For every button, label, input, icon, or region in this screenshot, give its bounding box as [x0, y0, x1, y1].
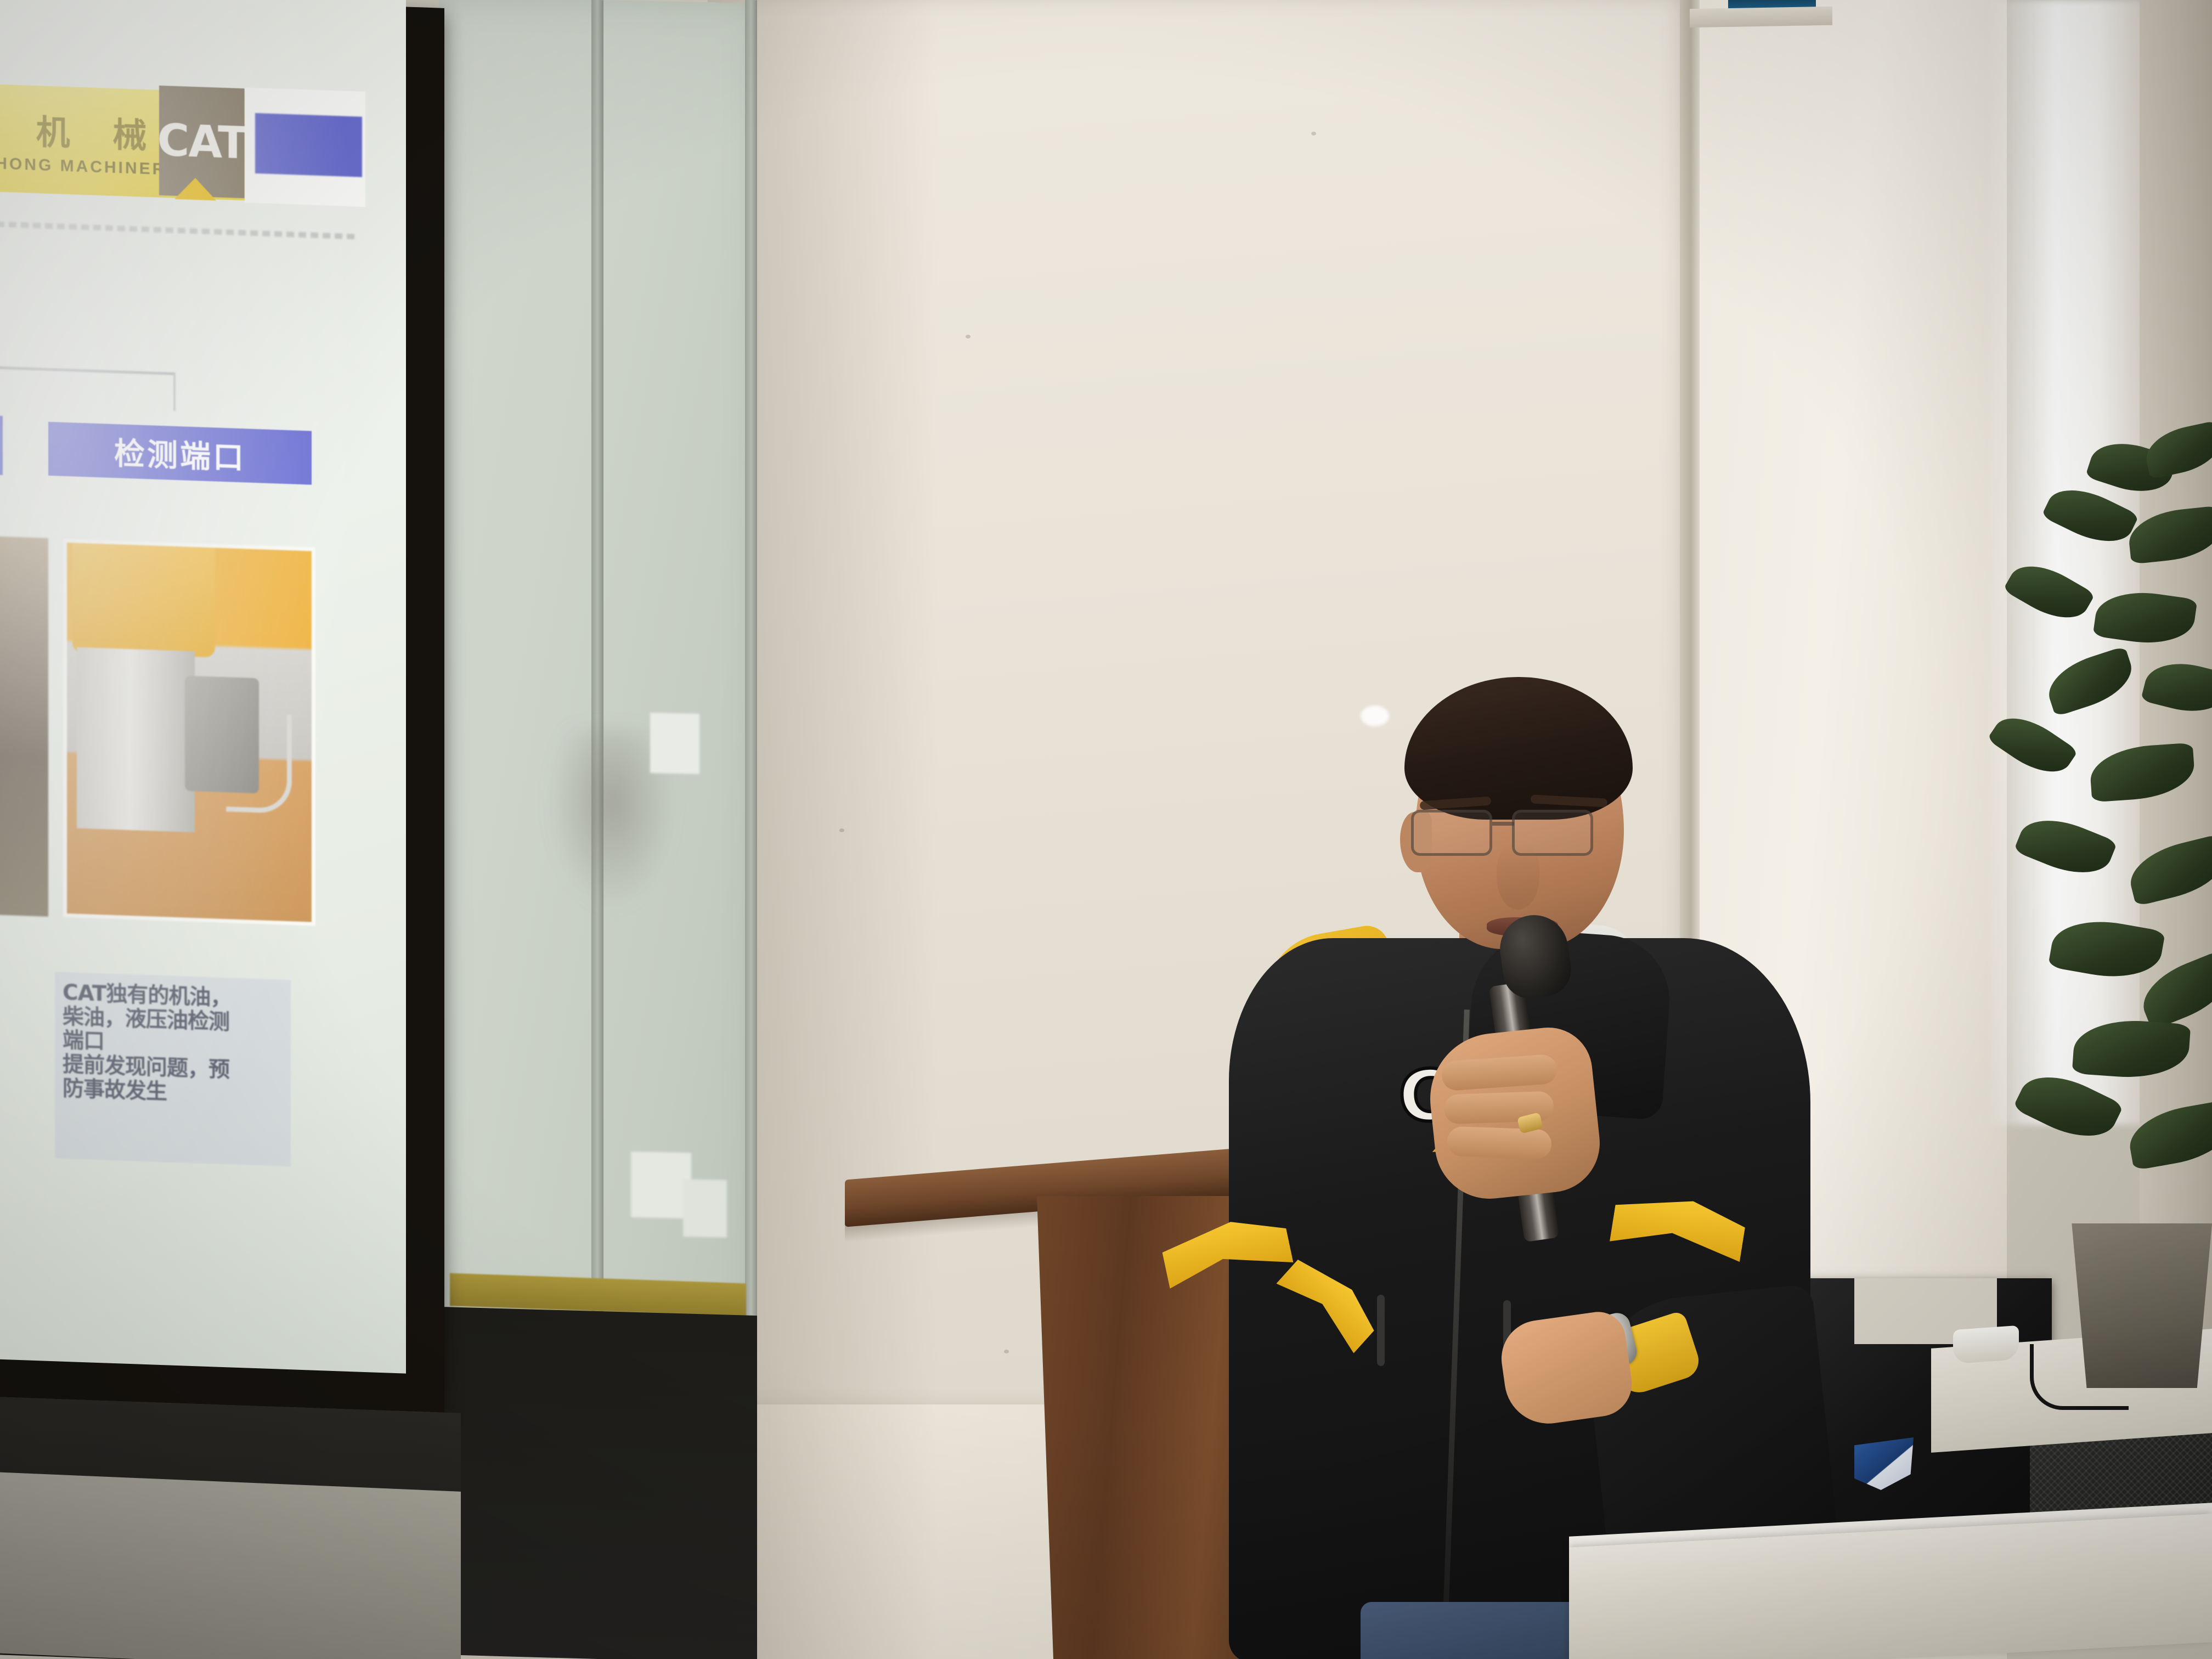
- wall-switch[interactable]: [650, 713, 699, 774]
- wall-mark: [839, 828, 844, 832]
- slide-left-text-column: 油 箱 期 减: [0, 962, 8, 1156]
- slide-cat-logo: CAT: [159, 86, 245, 198]
- lower-wall-panel-light: [0, 1471, 461, 1659]
- slide-blue-chip: [255, 113, 362, 177]
- plant-leaf: [2089, 742, 2196, 802]
- finger: [1447, 1126, 1552, 1160]
- lens-left: [1411, 810, 1492, 856]
- plant-leaf: [2141, 420, 2212, 479]
- ceiling-ledge: [1690, 7, 1832, 28]
- plant-leaf: [2124, 834, 2212, 907]
- slide-section-tab: 检测端口: [48, 422, 312, 485]
- plant-pot: [2063, 1223, 2212, 1388]
- plant-leaf: [2003, 553, 2096, 631]
- right-hand: [1497, 1308, 1636, 1429]
- partition-base: [439, 1307, 757, 1659]
- slide-body-textbox: CAT独有的机油， 柴油，液压油检测 端口 提前发现问题，预 防事故发生: [55, 972, 291, 1166]
- port-metal-body: [77, 647, 195, 833]
- slide-faint-textline: [0, 221, 357, 239]
- hoodie-pocket: [1377, 1295, 1385, 1366]
- plant-leaf: [2125, 1099, 2212, 1171]
- wall-mark: [1004, 1350, 1009, 1353]
- cat-triangle-icon: [174, 177, 216, 201]
- wall-switch[interactable]: [631, 1152, 691, 1218]
- plant-leaf: [2013, 807, 2118, 885]
- photo-scene: 行 机 械 NG HONG MACHINERY CAT 少 检测端口: [0, 0, 2212, 1659]
- projection-screen: 行 机 械 NG HONG MACHINERY CAT 少 检测端口: [0, 0, 406, 1374]
- plant-leaf: [2048, 912, 2165, 985]
- cat-wordmark: CAT: [157, 121, 247, 163]
- lens-glare: [1361, 706, 1389, 726]
- plant-leaf: [2072, 1017, 2191, 1081]
- slide-section-tab-label: 检测端口: [114, 429, 246, 478]
- slide-faint-box: [0, 365, 176, 411]
- slide-body-text: CAT独有的机油， 柴油，液压油检测 端口 提前发现问题，预 防事故发生: [63, 981, 284, 1108]
- power-outlet[interactable]: [683, 1179, 727, 1238]
- glasses-bridge: [1492, 822, 1514, 826]
- slide-left-text: 油 箱 期 减: [0, 962, 8, 1077]
- slide-tab-partial: 少: [0, 414, 3, 475]
- port-retainer-wire: [226, 713, 292, 814]
- potted-plant: [1909, 428, 2212, 1361]
- nose: [1497, 844, 1539, 910]
- plant-leaf: [2092, 586, 2197, 650]
- presenter: CAT: [1196, 702, 1843, 1659]
- wall-mark: [966, 335, 970, 338]
- plant-leaf: [2141, 654, 2212, 720]
- port-cap: [72, 539, 215, 658]
- slide-sampling-port-photo: [63, 539, 315, 926]
- plant-leaf: [2126, 505, 2212, 564]
- slide-side-photo: [0, 534, 48, 917]
- wall-mark: [1311, 132, 1316, 136]
- plant-leaf: [1987, 705, 2079, 786]
- plant-leaf: [2041, 646, 2139, 716]
